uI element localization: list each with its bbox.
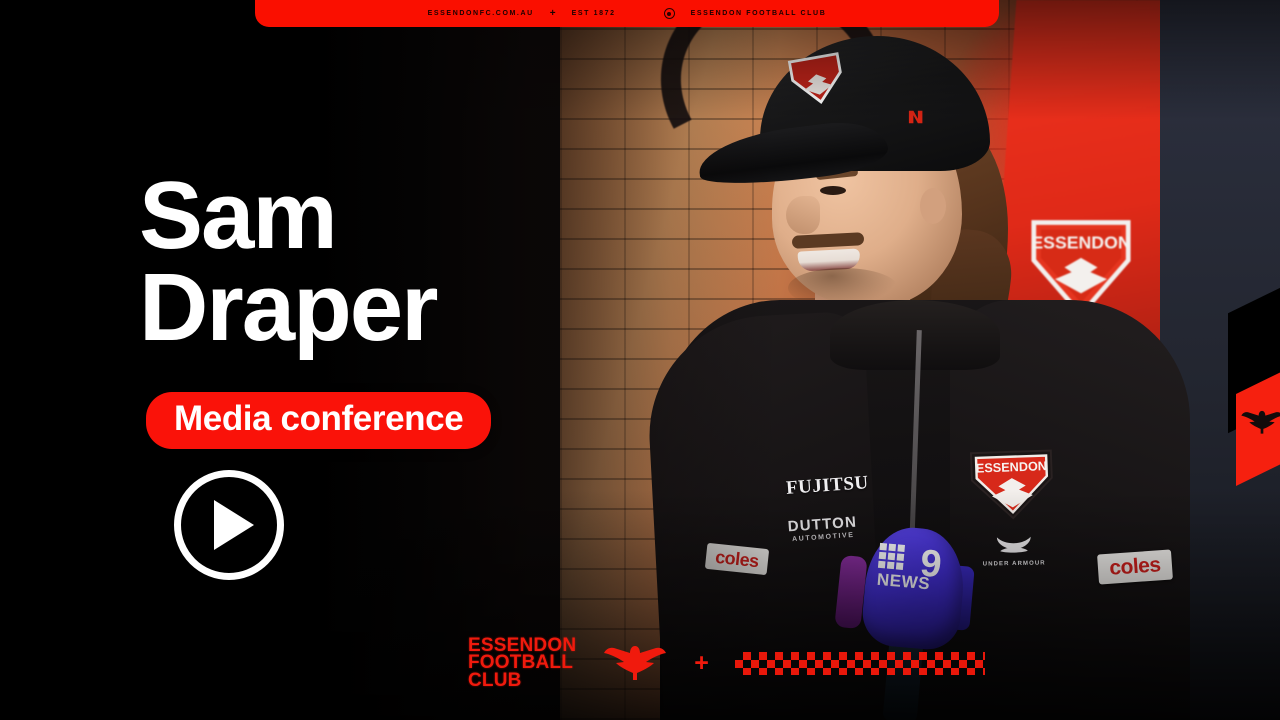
eye <box>820 186 846 195</box>
play-button[interactable] <box>174 470 284 580</box>
club-wordmark: ESSENDON FOOTBALL CLUB <box>468 637 576 689</box>
bomber-logo-icon <box>1240 407 1280 437</box>
title-line-2: Draper <box>139 262 436 354</box>
title-line-1: Sam <box>139 170 436 262</box>
club-wordmark-line-3: CLUB <box>468 672 576 689</box>
club-banner: ESSENDONFC.COM.AU + EST 1872 ESSENDON FO… <box>255 0 999 27</box>
club-established: EST 1872 <box>572 10 616 17</box>
play-icon <box>214 500 254 550</box>
nose <box>786 196 820 234</box>
club-name: ESSENDON FOOTBALL CLUB <box>691 10 827 17</box>
svg-text:ESSENDON: ESSENDON <box>976 459 1047 475</box>
video-thumbnail[interactable]: ESSENDON <box>0 0 1280 720</box>
page-title: Sam Draper <box>139 170 436 354</box>
strip-plus-separator: + <box>694 649 709 678</box>
club-roundel-icon <box>664 8 675 19</box>
checkerboard-pattern <box>735 652 985 675</box>
club-website[interactable]: ESSENDONFC.COM.AU <box>428 10 534 17</box>
ear <box>920 188 946 224</box>
status-badge: Media conference <box>146 392 491 449</box>
bottom-logo-strip: ESSENDON FOOTBALL CLUB + <box>468 628 985 698</box>
bomber-logo-icon <box>602 642 668 684</box>
banner-plus-separator: + <box>550 8 556 19</box>
